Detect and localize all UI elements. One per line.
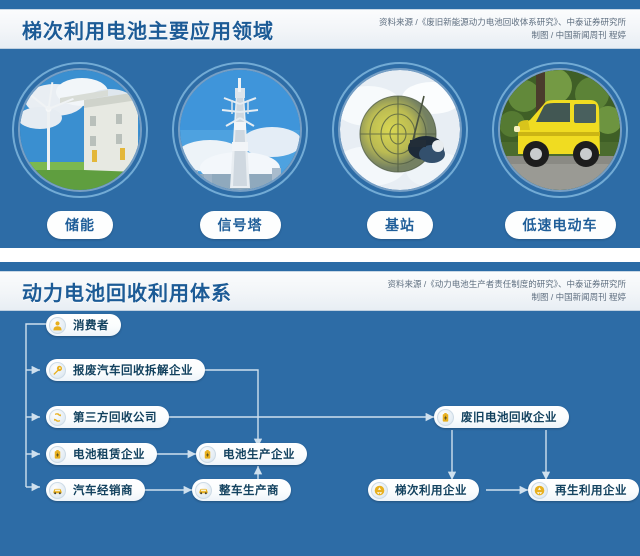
section1-source: 资料来源 /《废旧新能源动力电池回收体系研究》、中泰证券研究所 制图 / 中国新… xyxy=(379,16,626,42)
section1-header: 梯次利用电池主要应用领域 资料来源 /《废旧新能源动力电池回收体系研究》、中泰证… xyxy=(0,9,640,49)
node-consumer-label: 消费者 xyxy=(73,317,109,333)
node-scrap-car-label: 报废汽车回收拆解企业 xyxy=(73,362,193,378)
recycle-triangle-icon xyxy=(371,482,388,499)
caption-signal-tower: 信号塔 xyxy=(200,211,281,239)
image-ring xyxy=(492,62,628,198)
node-battery-leasing[interactable]: 电池租赁企业 xyxy=(46,443,157,465)
application-images-row xyxy=(0,55,640,205)
recycle-triangle-icon xyxy=(531,482,548,499)
caption-base-station: 基站 xyxy=(367,211,433,239)
recycling-flow-diagram: 消费者 报废汽车回收拆解企业 第三方回收公司 xyxy=(0,314,640,556)
node-car-dealer[interactable]: 汽车经销商 xyxy=(46,479,145,501)
section2-source-line1: 资料来源 /《动力电池生产者责任制度的研究》、中泰证券研究所 xyxy=(388,278,626,291)
section1-source-line2: 制图 / 中国新闻周刊 程婷 xyxy=(379,29,626,42)
node-waste-battery-recycler-label: 废旧电池回收企业 xyxy=(461,409,557,425)
battery-icon xyxy=(49,446,66,463)
recycle-arrows-icon xyxy=(49,409,66,426)
application-image-storage xyxy=(12,62,148,198)
battery-icon xyxy=(437,409,454,426)
node-vehicle-manufacturer-label: 整车生产商 xyxy=(219,482,279,498)
battery-icon xyxy=(199,446,216,463)
section2-title: 动力电池回收利用体系 xyxy=(22,277,232,306)
infographic-root: 梯次利用电池主要应用领域 资料来源 /《废旧新能源动力电池回收体系研究》、中泰证… xyxy=(0,0,640,556)
image-ring xyxy=(12,62,148,198)
application-captions-row: 储能 信号塔 基站 低速电动车 xyxy=(0,209,640,241)
section-cascade-applications: 梯次利用电池主要应用领域 资料来源 /《废旧新能源动力电池回收体系研究》、中泰证… xyxy=(0,0,640,248)
flow-connector-lines xyxy=(0,314,640,556)
node-cascade-utilization-label: 梯次利用企业 xyxy=(395,482,467,498)
node-third-party-recycler[interactable]: 第三方回收公司 xyxy=(46,406,169,428)
node-cascade-utilization[interactable]: 梯次利用企业 xyxy=(368,479,479,501)
image-ring xyxy=(172,62,308,198)
node-battery-manufacturer-label: 电池生产企业 xyxy=(223,446,295,462)
image-ring xyxy=(332,62,468,198)
node-waste-battery-recycler[interactable]: 废旧电池回收企业 xyxy=(434,406,569,428)
application-image-signal-tower xyxy=(172,62,308,198)
top-accent-strip-2 xyxy=(0,262,640,271)
car-icon xyxy=(49,482,66,499)
node-battery-leasing-label: 电池租赁企业 xyxy=(73,446,145,462)
caption-storage: 储能 xyxy=(47,211,113,239)
node-battery-manufacturer[interactable]: 电池生产企业 xyxy=(196,443,307,465)
section2-source: 资料来源 /《动力电池生产者责任制度的研究》、中泰证券研究所 制图 / 中国新闻… xyxy=(388,278,626,304)
section-divider-gap xyxy=(0,248,640,262)
node-scrap-car-dismantler[interactable]: 报废汽车回收拆解企业 xyxy=(46,359,205,381)
node-vehicle-manufacturer[interactable]: 整车生产商 xyxy=(192,479,291,501)
person-icon xyxy=(49,317,66,334)
section1-source-line1: 资料来源 /《废旧新能源动力电池回收体系研究》、中泰证券研究所 xyxy=(379,16,626,29)
car-icon xyxy=(195,482,212,499)
application-image-base-station xyxy=(332,62,468,198)
top-accent-strip xyxy=(0,0,640,9)
section2-header: 动力电池回收利用体系 资料来源 /《动力电池生产者责任制度的研究》、中泰证券研究… xyxy=(0,271,640,311)
application-image-low-speed-ev xyxy=(492,62,628,198)
section1-title: 梯次利用电池主要应用领域 xyxy=(22,15,274,44)
caption-low-speed-ev: 低速电动车 xyxy=(505,211,616,239)
section-recycling-system: 动力电池回收利用体系 资料来源 /《动力电池生产者责任制度的研究》、中泰证券研究… xyxy=(0,262,640,556)
node-material-reuse-label: 再生利用企业 xyxy=(555,482,627,498)
node-car-dealer-label: 汽车经销商 xyxy=(73,482,133,498)
wrench-icon xyxy=(49,362,66,379)
section2-source-line2: 制图 / 中国新闻周刊 程婷 xyxy=(388,291,626,304)
node-third-party-label: 第三方回收公司 xyxy=(73,409,157,425)
node-consumer[interactable]: 消费者 xyxy=(46,314,121,336)
node-material-reuse[interactable]: 再生利用企业 xyxy=(528,479,639,501)
